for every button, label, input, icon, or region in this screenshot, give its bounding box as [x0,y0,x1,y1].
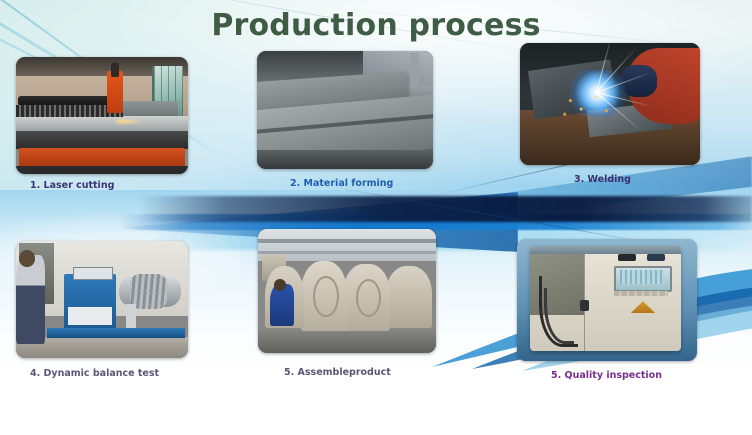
step-image-2[interactable] [257,51,433,169]
step-caption-6: 5. Quality inspection [551,370,662,381]
step-image-5[interactable] [258,229,436,353]
step-card-4: 4. Dynamic balance test [16,241,188,358]
step-card-6: 5. Quality inspection [517,239,697,361]
production-process-slide: Production process 1. Laser cutting [0,0,752,435]
step-image-3[interactable] [520,43,700,165]
step-caption-5: 5. Assembleproduct [284,367,391,378]
step-image-1[interactable] [16,57,188,174]
step-card-5: 5. Assembleproduct [258,229,436,353]
step-card-2: 2. Material forming [257,51,433,169]
step-caption-4: 4. Dynamic balance test [30,368,159,379]
step-caption-3: 3. Welding [574,174,631,185]
page-title: Production process [0,8,752,43]
step-caption-1: 1. Laser cutting [30,180,114,191]
step-card-1: 1. Laser cutting [16,57,188,174]
step-card-3: 3. Welding [520,43,700,165]
step-image-4[interactable] [16,241,188,358]
step-caption-2: 2. Material forming [290,178,393,189]
step-image-6[interactable] [517,239,697,361]
